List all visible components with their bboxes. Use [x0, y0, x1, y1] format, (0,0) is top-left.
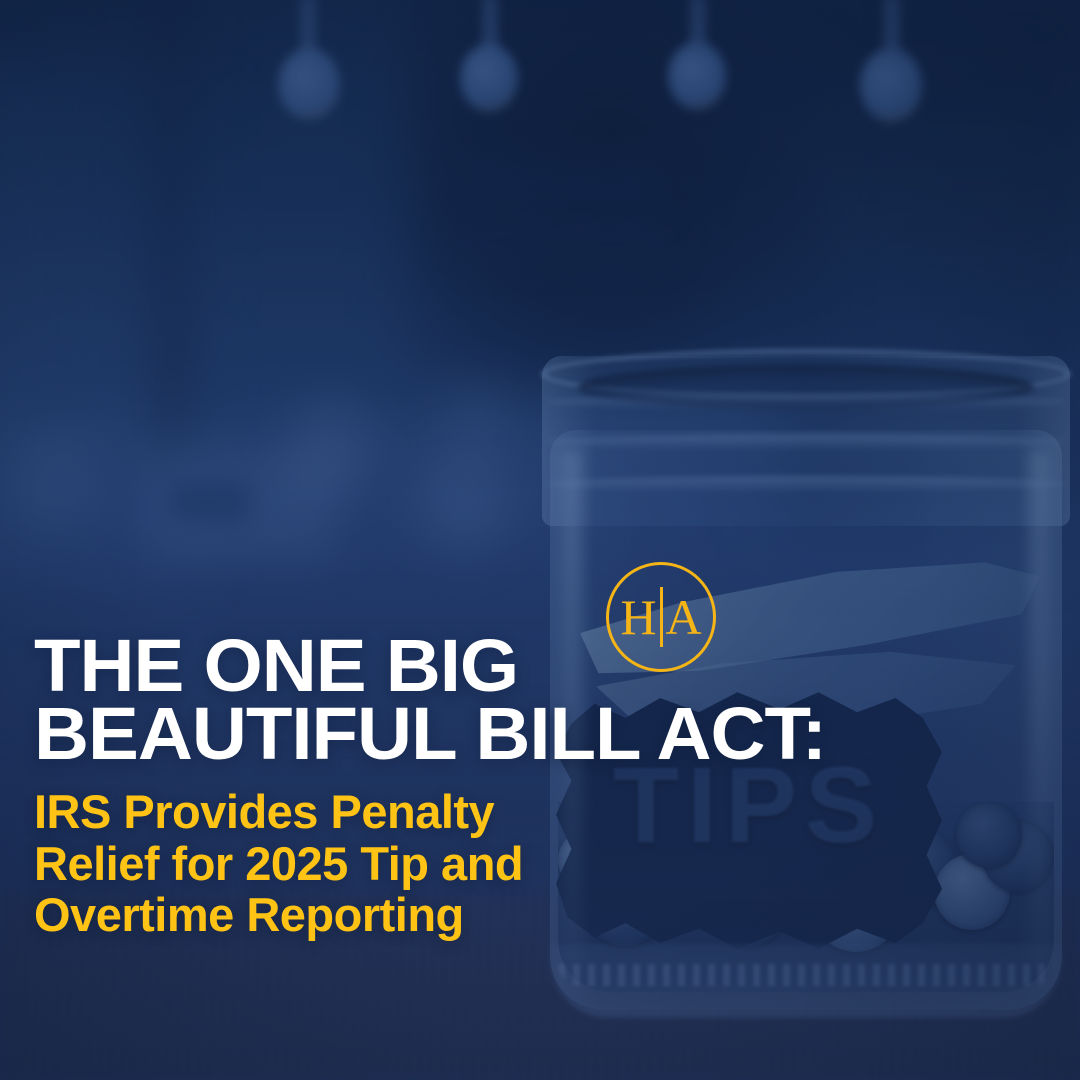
promo-graphic-canvas: TIPS H A THE ONE BIG — [0, 0, 1080, 1080]
subheadline-line-2: Relief for 2025 Tip and — [34, 838, 834, 890]
content-layer: H A THE ONE BIG BEAUTIFUL BILL ACT: IRS … — [0, 0, 1080, 1080]
headline-line-1: THE ONE BIG — [34, 632, 1074, 700]
headline-line-2: BEAUTIFUL BILL ACT: — [34, 700, 1074, 768]
subheadline-line-1: IRS Provides Penalty — [34, 786, 834, 838]
headline: THE ONE BIG BEAUTIFUL BILL ACT: — [34, 632, 1074, 768]
subheadline: IRS Provides Penalty Relief for 2025 Tip… — [34, 786, 834, 941]
subheadline-line-3: Overtime Reporting — [34, 889, 834, 941]
